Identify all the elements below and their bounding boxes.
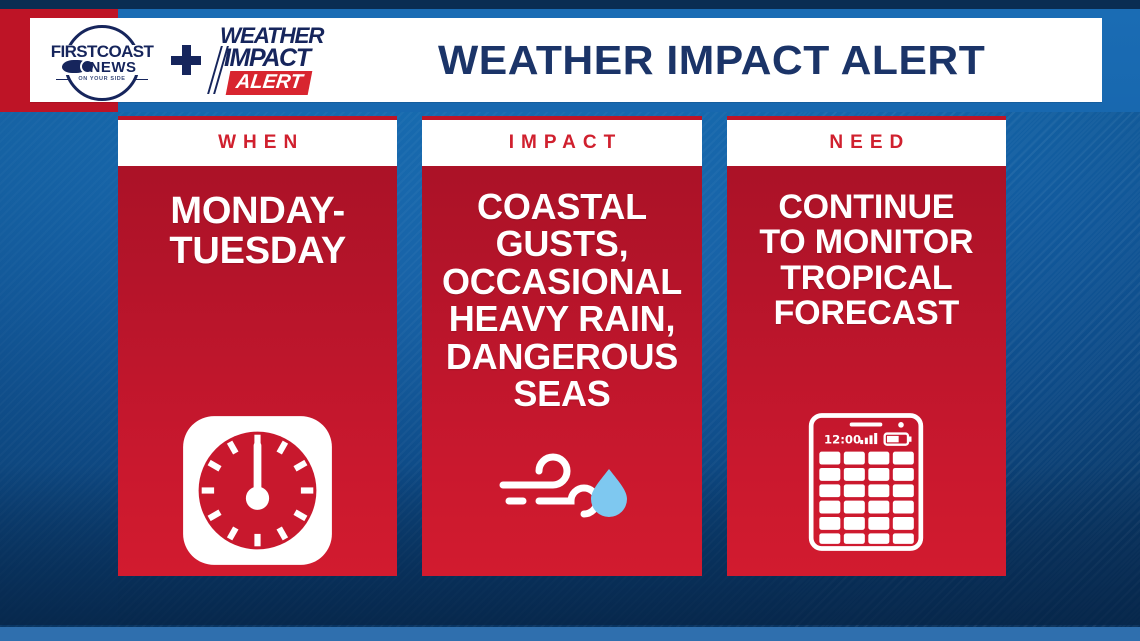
logo-alert-badge: ALERT [226, 71, 313, 95]
weather-alert-graphic: FIRSTCOAST NEWS ON YOUR SIDE WEATHER IMP… [0, 0, 1140, 641]
top-navy-strip [0, 0, 1140, 9]
plus-icon [171, 45, 201, 75]
clock-icon [180, 413, 335, 568]
weather-impact-alert-logo: WEATHER IMPACT ALERT [206, 24, 340, 96]
column-impact-icon-slot [422, 436, 701, 546]
signal-bars-icon [860, 433, 877, 444]
page-title: WEATHER IMPACT ALERT [325, 37, 1117, 84]
column-when-body: MONDAY- TUESDAY [118, 166, 397, 576]
logo-alert-word: ALERT [235, 72, 304, 93]
column-impact-header-frame: IMPACT [422, 116, 701, 166]
column-impact-text: COASTAL GUSTS, OCCASIONAL HEAVY RAIN, DA… [432, 188, 691, 413]
column-need-text: CONTINUE TO MONITOR TROPICAL FORECAST [737, 188, 996, 331]
column-when-icon-slot [118, 403, 397, 568]
column-need: NEED CONTINUE TO MONITOR TROPICAL FORECA… [727, 116, 1006, 576]
first-coast-news-logo: FIRSTCOAST NEWS ON YOUR SIDE [36, 23, 168, 97]
logo-network-line2: NEWS [36, 60, 168, 75]
column-impact: IMPACT COASTAL GUSTS, OCCASIONAL HEAVY R… [422, 116, 701, 576]
logo-tagline: ON YOUR SIDE [66, 76, 138, 82]
column-impact-header: IMPACT [422, 120, 701, 166]
phone-calendar-icon: 12:00 [807, 412, 925, 552]
calendar-grid [820, 451, 915, 543]
logo-impact-word: IMPACT [224, 46, 310, 71]
column-when-text: MONDAY- TUESDAY [128, 188, 387, 271]
column-need-header-frame: NEED [727, 116, 1006, 166]
logo-network-line1: FIRSTCOAST [36, 43, 168, 60]
battery-icon [885, 433, 912, 444]
column-need-header: NEED [727, 120, 1006, 166]
column-when: WHEN MONDAY- TUESDAY [118, 116, 397, 576]
column-when-header-frame: WHEN [118, 116, 397, 166]
column-need-body: CONTINUE TO MONITOR TROPICAL FORECAST 12… [727, 166, 1006, 576]
column-impact-body: COASTAL GUSTS, OCCASIONAL HEAVY RAIN, DA… [422, 166, 701, 576]
alert-columns: WHEN MONDAY- TUESDAY [118, 116, 1006, 576]
column-when-header: WHEN [118, 120, 397, 166]
wind-and-raindrop-icon [487, 449, 637, 534]
phone-status-time: 12:00 [824, 432, 861, 446]
logo-lockup: FIRSTCOAST NEWS ON YOUR SIDE WEATHER IMP… [30, 18, 340, 102]
header-bar: FIRSTCOAST NEWS ON YOUR SIDE WEATHER IMP… [30, 18, 1102, 102]
bottom-blue-strip [0, 627, 1140, 641]
column-need-icon-slot: 12:00 [727, 409, 1006, 554]
